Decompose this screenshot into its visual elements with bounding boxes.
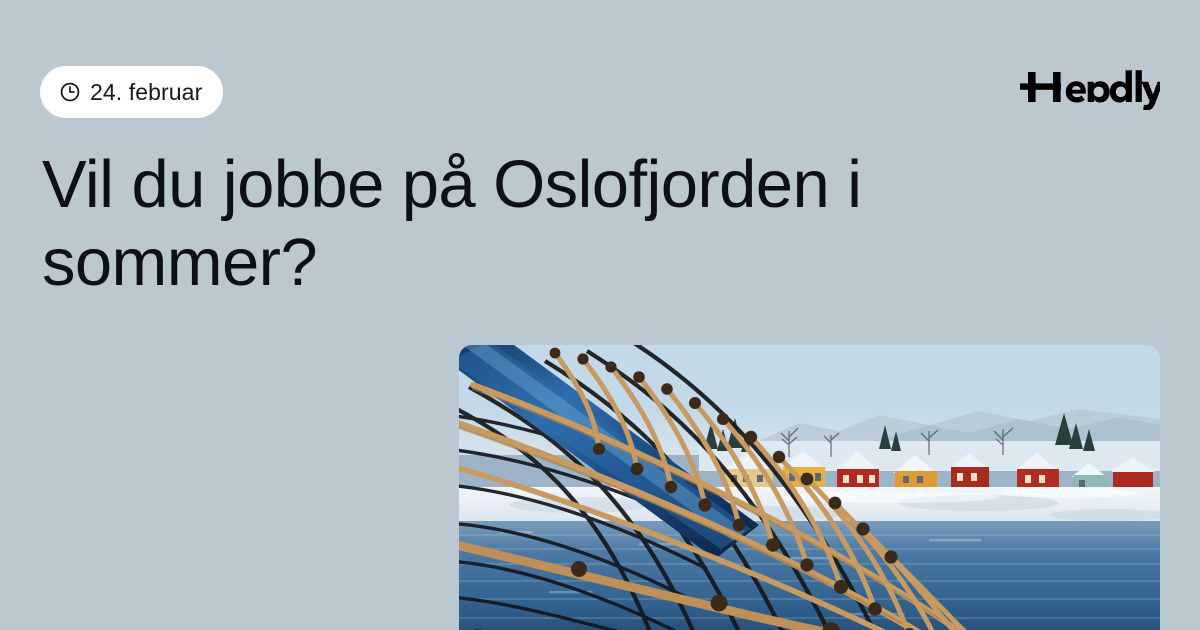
date-badge: 24. februar <box>40 66 223 118</box>
hero-image <box>459 345 1160 630</box>
social-share-card: 24. februar Vil du jobbe på Osl <box>0 0 1200 630</box>
clock-icon <box>59 81 81 103</box>
headly-logo <box>1020 64 1160 110</box>
page-title: Vil du jobbe på Oslofjorden i sommer? <box>42 146 1112 303</box>
date-label: 24. februar <box>90 81 202 104</box>
hero-image-content <box>459 345 1160 630</box>
